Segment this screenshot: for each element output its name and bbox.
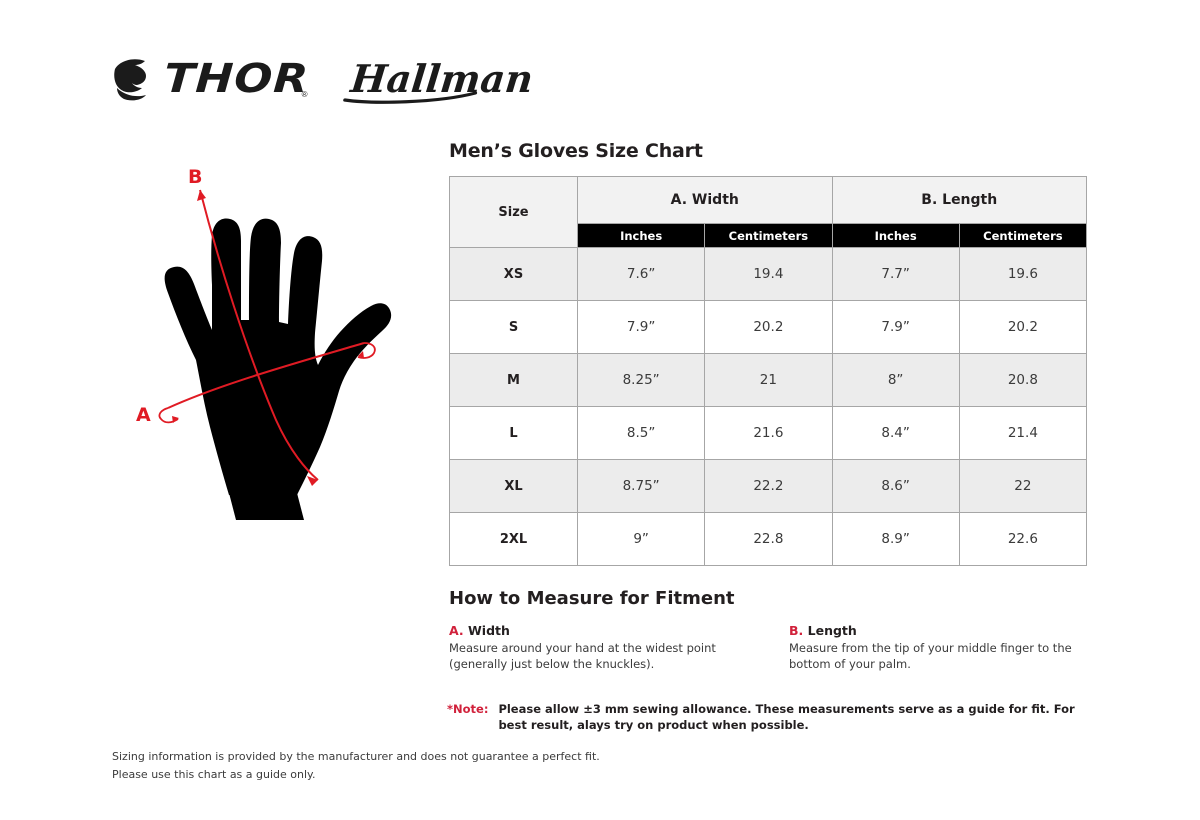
how-to-measure-letter: A. [449, 623, 464, 638]
column-header-group-length: B. Length [832, 177, 1087, 224]
hallman-logo: Hallman [349, 60, 535, 98]
cell-width-centimeters: 21.6 [705, 407, 832, 460]
cell-width-inches: 8.25” [578, 354, 705, 407]
cell-width-centimeters: 21 [705, 354, 832, 407]
thor-helmet-icon [112, 55, 162, 103]
note-label: *Note: [447, 702, 488, 733]
cell-width-inches: 7.9” [578, 301, 705, 354]
note-text: Please allow ±3 mm sewing allowance. The… [498, 702, 1087, 733]
how-to-measure-heading: B. Length [789, 623, 1089, 638]
cell-width-centimeters: 22.8 [705, 513, 832, 566]
diagram-label-a: A [136, 404, 151, 426]
cell-width-centimeters: 19.4 [705, 248, 832, 301]
cell-length-centimeters: 21.4 [959, 407, 1086, 460]
brand-logo-bar: THOR ® Hallman [112, 48, 533, 110]
table-row: S 7.9” 20.2 7.9” 20.2 [450, 301, 1087, 354]
column-header-length-centimeters: Centimeters [959, 224, 1086, 248]
hallman-swash-underline [343, 90, 480, 104]
column-header-group-width: A. Width [578, 177, 833, 224]
table-header-group-row: Size A. Width B. Length [450, 177, 1087, 224]
how-to-measure-columns: A. Width Measure around your hand at the… [449, 623, 1089, 672]
cell-width-inches: 9” [578, 513, 705, 566]
cell-width-inches: 7.6” [578, 248, 705, 301]
disclaimer-block: Sizing information is provided by the ma… [112, 748, 600, 783]
cell-size: L [450, 407, 578, 460]
how-to-measure-letter: B. [789, 623, 803, 638]
table-row: L 8.5” 21.6 8.4” 21.4 [450, 407, 1087, 460]
cell-size: S [450, 301, 578, 354]
how-to-measure-label: Width [468, 623, 510, 638]
note-block: *Note: Please allow ±3 mm sewing allowan… [447, 702, 1087, 733]
table-row: M 8.25” 21 8” 20.8 [450, 354, 1087, 407]
column-header-length-inches: Inches [832, 224, 959, 248]
cell-length-inches: 7.7” [832, 248, 959, 301]
page-title: Men’s Gloves Size Chart [449, 140, 703, 162]
cell-width-inches: 8.5” [578, 407, 705, 460]
table-row: XL 8.75” 22.2 8.6” 22 [450, 460, 1087, 513]
column-header-size: Size [450, 177, 578, 248]
cell-size: XS [450, 248, 578, 301]
cell-length-centimeters: 20.8 [959, 354, 1086, 407]
how-to-measure-section: How to Measure for Fitment A. Width Meas… [449, 588, 1089, 672]
cell-length-inches: 8.4” [832, 407, 959, 460]
column-header-width-centimeters: Centimeters [705, 224, 832, 248]
cell-length-inches: 7.9” [832, 301, 959, 354]
cell-length-inches: 8.6” [832, 460, 959, 513]
size-chart-table: Size A. Width B. Length Inches Centimete… [449, 176, 1087, 566]
thor-logo: THOR ® [112, 55, 307, 103]
table-row: 2XL 9” 22.8 8.9” 22.6 [450, 513, 1087, 566]
disclaimer-line-2: Please use this chart as a guide only. [112, 766, 600, 784]
cell-width-centimeters: 20.2 [705, 301, 832, 354]
cell-length-inches: 8” [832, 354, 959, 407]
disclaimer-line-1: Sizing information is provided by the ma… [112, 748, 600, 766]
thor-wordmark: THOR [163, 59, 310, 99]
how-to-measure-text: Measure from the tip of your middle fing… [789, 641, 1089, 672]
how-to-measure-title: How to Measure for Fitment [449, 588, 1089, 609]
how-to-measure-item-length: B. Length Measure from the tip of your m… [789, 623, 1089, 672]
cell-length-centimeters: 22.6 [959, 513, 1086, 566]
cell-length-inches: 8.9” [832, 513, 959, 566]
how-to-measure-item-width: A. Width Measure around your hand at the… [449, 623, 749, 672]
cell-length-centimeters: 19.6 [959, 248, 1086, 301]
cell-length-centimeters: 20.2 [959, 301, 1086, 354]
how-to-measure-text: Measure around your hand at the widest p… [449, 641, 749, 672]
table-row: XS 7.6” 19.4 7.7” 19.6 [450, 248, 1087, 301]
cell-width-centimeters: 22.2 [705, 460, 832, 513]
how-to-measure-label: Length [808, 623, 857, 638]
cell-size: XL [450, 460, 578, 513]
cell-size: 2XL [450, 513, 578, 566]
column-header-width-inches: Inches [578, 224, 705, 248]
cell-width-inches: 8.75” [578, 460, 705, 513]
diagram-label-b: B [188, 166, 202, 188]
cell-length-centimeters: 22 [959, 460, 1086, 513]
how-to-measure-heading: A. Width [449, 623, 749, 638]
hand-measurement-diagram: B A [128, 165, 428, 530]
cell-size: M [450, 354, 578, 407]
